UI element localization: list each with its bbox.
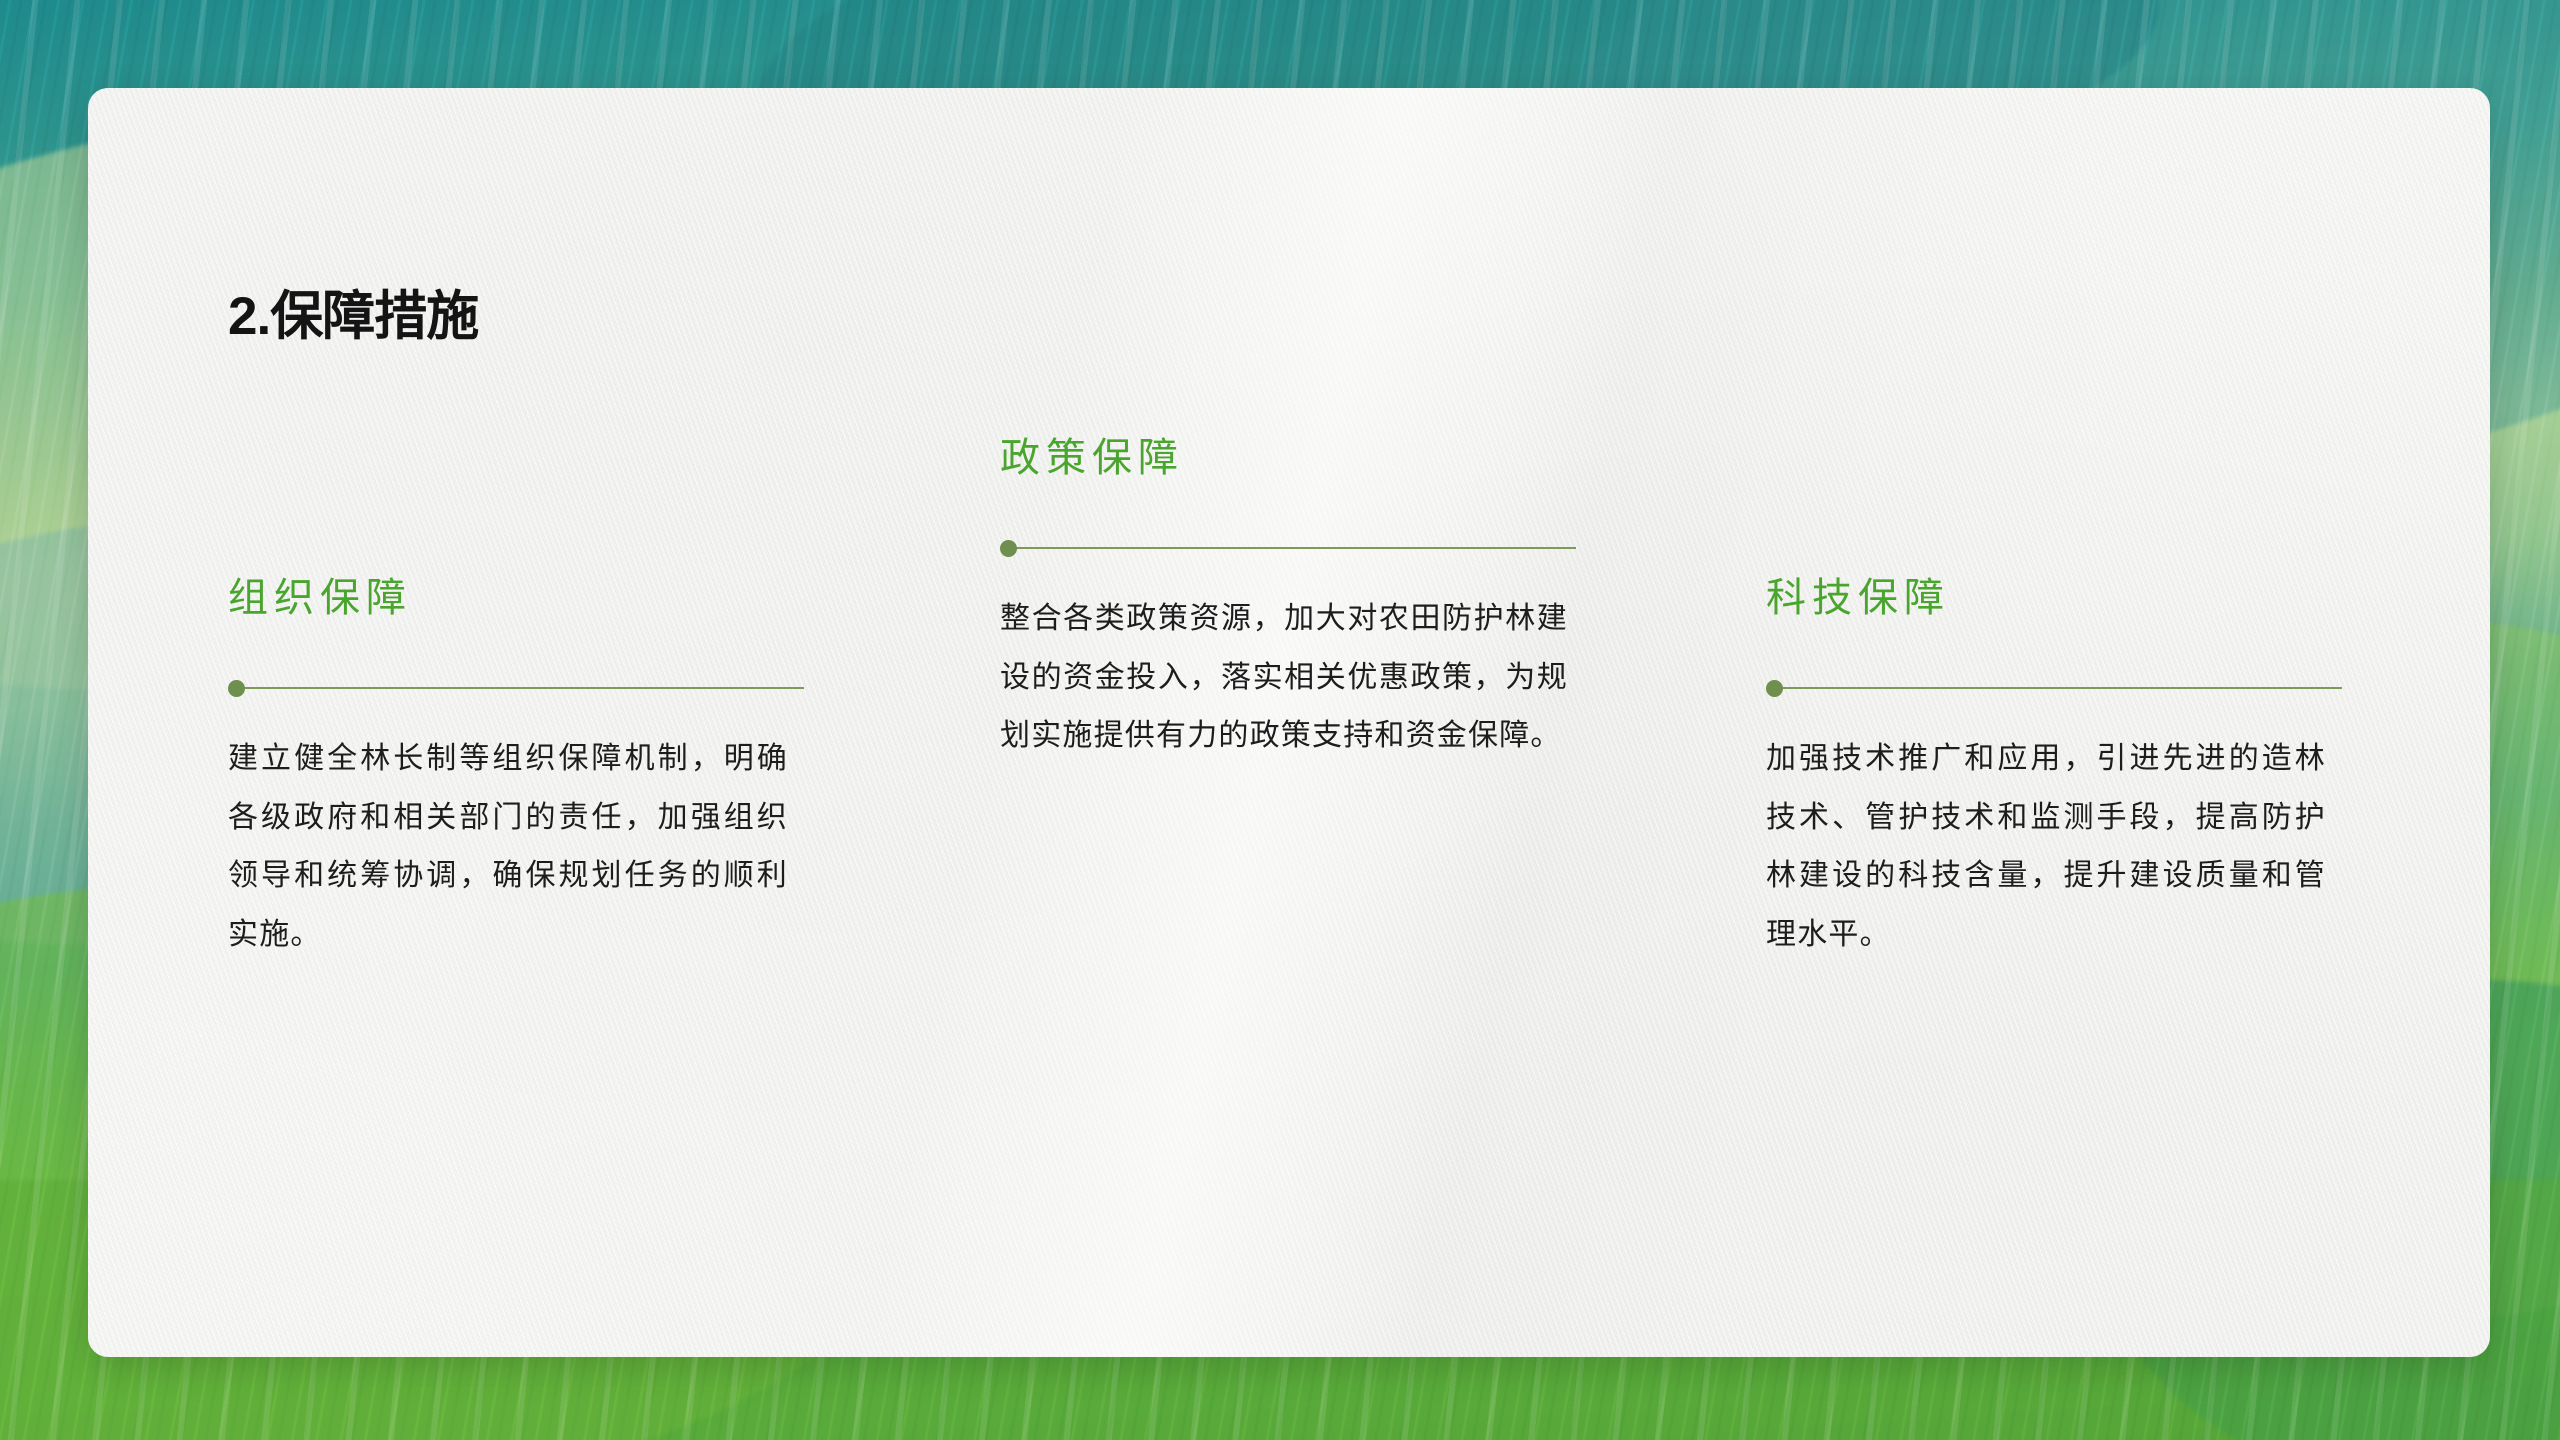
column-heading-policy: 政策保障 [1000,434,1580,482]
column-body-technology: 加强技术推广和应用，引进先进的造林技术、管护技术和监测手段，提高防护林建设的科技… [1766,730,2326,964]
column-policy: 政策保障 整合各类政策资源，加大对农田防护林建设的资金投入，落实相关优惠政策，为… [1000,434,1580,766]
column-body-organization: 建立健全林长制等组织保障机制，明确各级政府和相关部门的责任，加强组织领导和统筹协… [228,730,788,964]
column-body-policy: 整合各类政策资源，加大对农田防护林建设的资金投入，落实相关优惠政策，为规划实施提… [1000,590,1568,766]
divider-technology [1766,678,2346,698]
divider-rule [1008,547,1576,549]
divider-policy [1000,538,1580,558]
column-organization: 组织保障 建立健全林长制等组织保障机制，明确各级政府和相关部门的责任，加强组织领… [228,574,808,964]
content-card: 2.保障措施 组织保障 建立健全林长制等组织保障机制，明确各级政府和相关部门的责… [88,88,2490,1357]
divider-organization [228,678,808,698]
divider-dot-icon [1766,680,1783,697]
divider-dot-icon [1000,540,1017,557]
column-heading-organization: 组织保障 [228,574,808,622]
page-title: 2.保障措施 [228,274,478,350]
slide: 2.保障措施 组织保障 建立健全林长制等组织保障机制，明确各级政府和相关部门的责… [0,0,2560,1440]
column-heading-technology: 科技保障 [1766,574,2346,622]
divider-rule [236,687,804,689]
divider-dot-icon [228,680,245,697]
column-technology: 科技保障 加强技术推广和应用，引进先进的造林技术、管护技术和监测手段，提高防护林… [1766,574,2346,964]
divider-rule [1774,687,2342,689]
